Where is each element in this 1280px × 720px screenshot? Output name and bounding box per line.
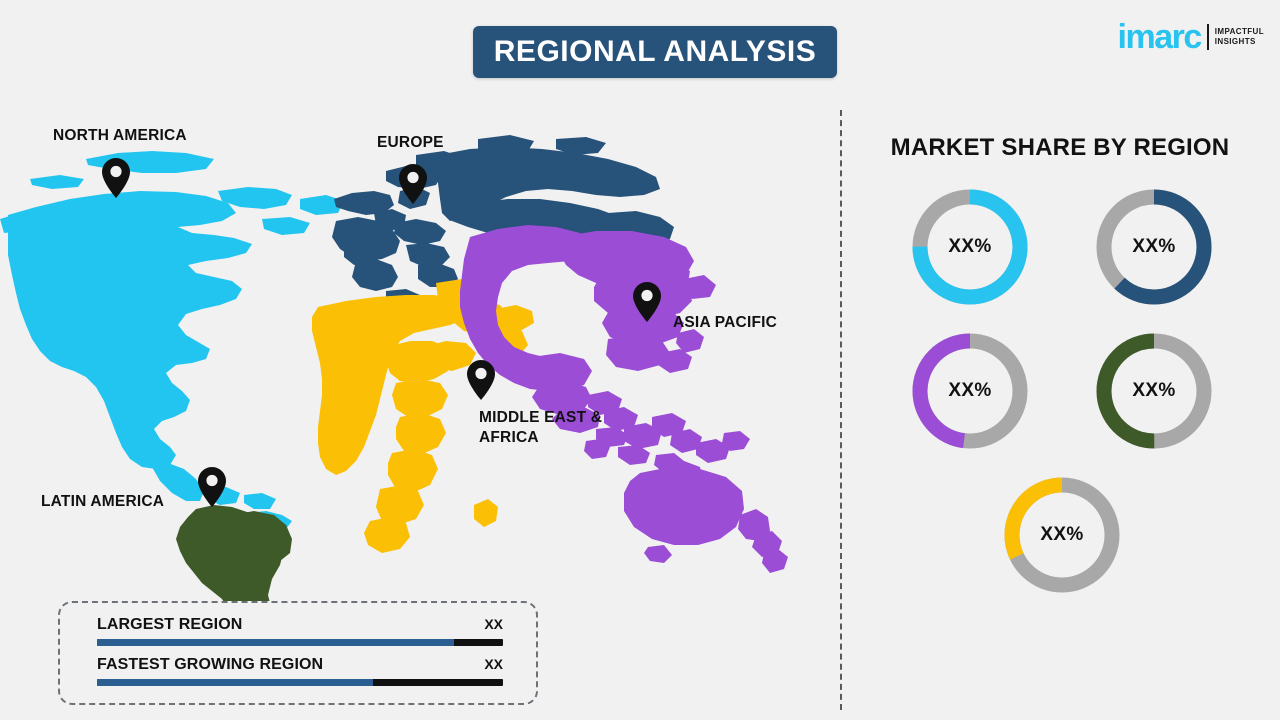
map-label-asia-pacific: ASIA PACIFIC xyxy=(673,313,777,333)
market-share-panel-title: MARKET SHARE BY REGION xyxy=(840,134,1280,162)
logo-divider-icon xyxy=(1207,24,1209,50)
page-title: REGIONAL ANALYSIS xyxy=(494,35,816,69)
donut-row-2: XX% XX% xyxy=(866,327,1258,455)
donut-value-north-america: XX% xyxy=(906,183,1034,311)
legend-value-fastest-growing-region: XX xyxy=(484,656,503,672)
legend-bar-largest-region xyxy=(97,639,503,646)
map-label-europe: EUROPE xyxy=(377,133,444,153)
infographic-canvas: REGIONAL ANALYSIS imarc IMPACTFUL INSIGH… xyxy=(0,0,1280,720)
donut-chart-asia-pacific: XX% xyxy=(906,327,1034,455)
market-share-donut-grid: XX% XX% XX% xyxy=(866,183,1258,615)
logo-tagline-line1: IMPACTFUL xyxy=(1215,27,1264,37)
donut-row-1: XX% XX% xyxy=(866,183,1258,311)
legend-row-fastest-growing-region: FASTEST GROWING REGION XX xyxy=(97,656,503,686)
legend-label-largest-region: LARGEST REGION xyxy=(97,616,242,634)
logo-tagline-line2: INSIGHTS xyxy=(1215,37,1264,47)
legend-box: LARGEST REGION XX FASTEST GROWING REGION… xyxy=(58,601,538,705)
donut-chart-latin-america: XX% xyxy=(1090,327,1218,455)
donut-chart-europe: XX% xyxy=(1090,183,1218,311)
donut-value-middle-east-africa: XX% xyxy=(998,471,1126,599)
legend-bar-fill-largest-region xyxy=(97,639,454,646)
map-label-north-america: NORTH AMERICA xyxy=(53,126,187,146)
brand-logo: imarc IMPACTFUL INSIGHTS xyxy=(1118,20,1264,54)
map-label-middle-east-africa: MIDDLE EAST & AFRICA xyxy=(479,408,639,449)
map-pin-middle-east-africa[interactable] xyxy=(466,359,496,401)
donut-row-3: XX% xyxy=(866,471,1258,599)
legend-bar-fill-fastest-growing-region xyxy=(97,679,373,686)
donut-chart-middle-east-africa: XX% xyxy=(998,471,1126,599)
legend-row-largest-region: LARGEST REGION XX xyxy=(97,616,503,646)
map-region-asia-pacific xyxy=(460,225,788,573)
map-pin-asia-pacific[interactable] xyxy=(632,281,662,323)
map-pin-europe[interactable] xyxy=(398,163,428,205)
logo-tagline: IMPACTFUL INSIGHTS xyxy=(1215,27,1264,47)
section-divider xyxy=(840,110,842,710)
donut-value-europe: XX% xyxy=(1090,183,1218,311)
legend-bar-fastest-growing-region xyxy=(97,679,503,686)
legend-label-fastest-growing-region: FASTEST GROWING REGION xyxy=(97,656,323,674)
map-pin-north-america[interactable] xyxy=(101,157,131,199)
map-region-north-america xyxy=(0,151,344,529)
map-pin-latin-america[interactable] xyxy=(197,466,227,508)
donut-value-asia-pacific: XX% xyxy=(906,327,1034,455)
map-label-latin-america: LATIN AMERICA xyxy=(41,492,164,512)
donut-chart-north-america: XX% xyxy=(906,183,1034,311)
donut-value-latin-america: XX% xyxy=(1090,327,1218,455)
logo-wordmark: imarc xyxy=(1118,20,1201,54)
page-title-bar: REGIONAL ANALYSIS xyxy=(473,26,837,78)
legend-value-largest-region: XX xyxy=(484,616,503,632)
